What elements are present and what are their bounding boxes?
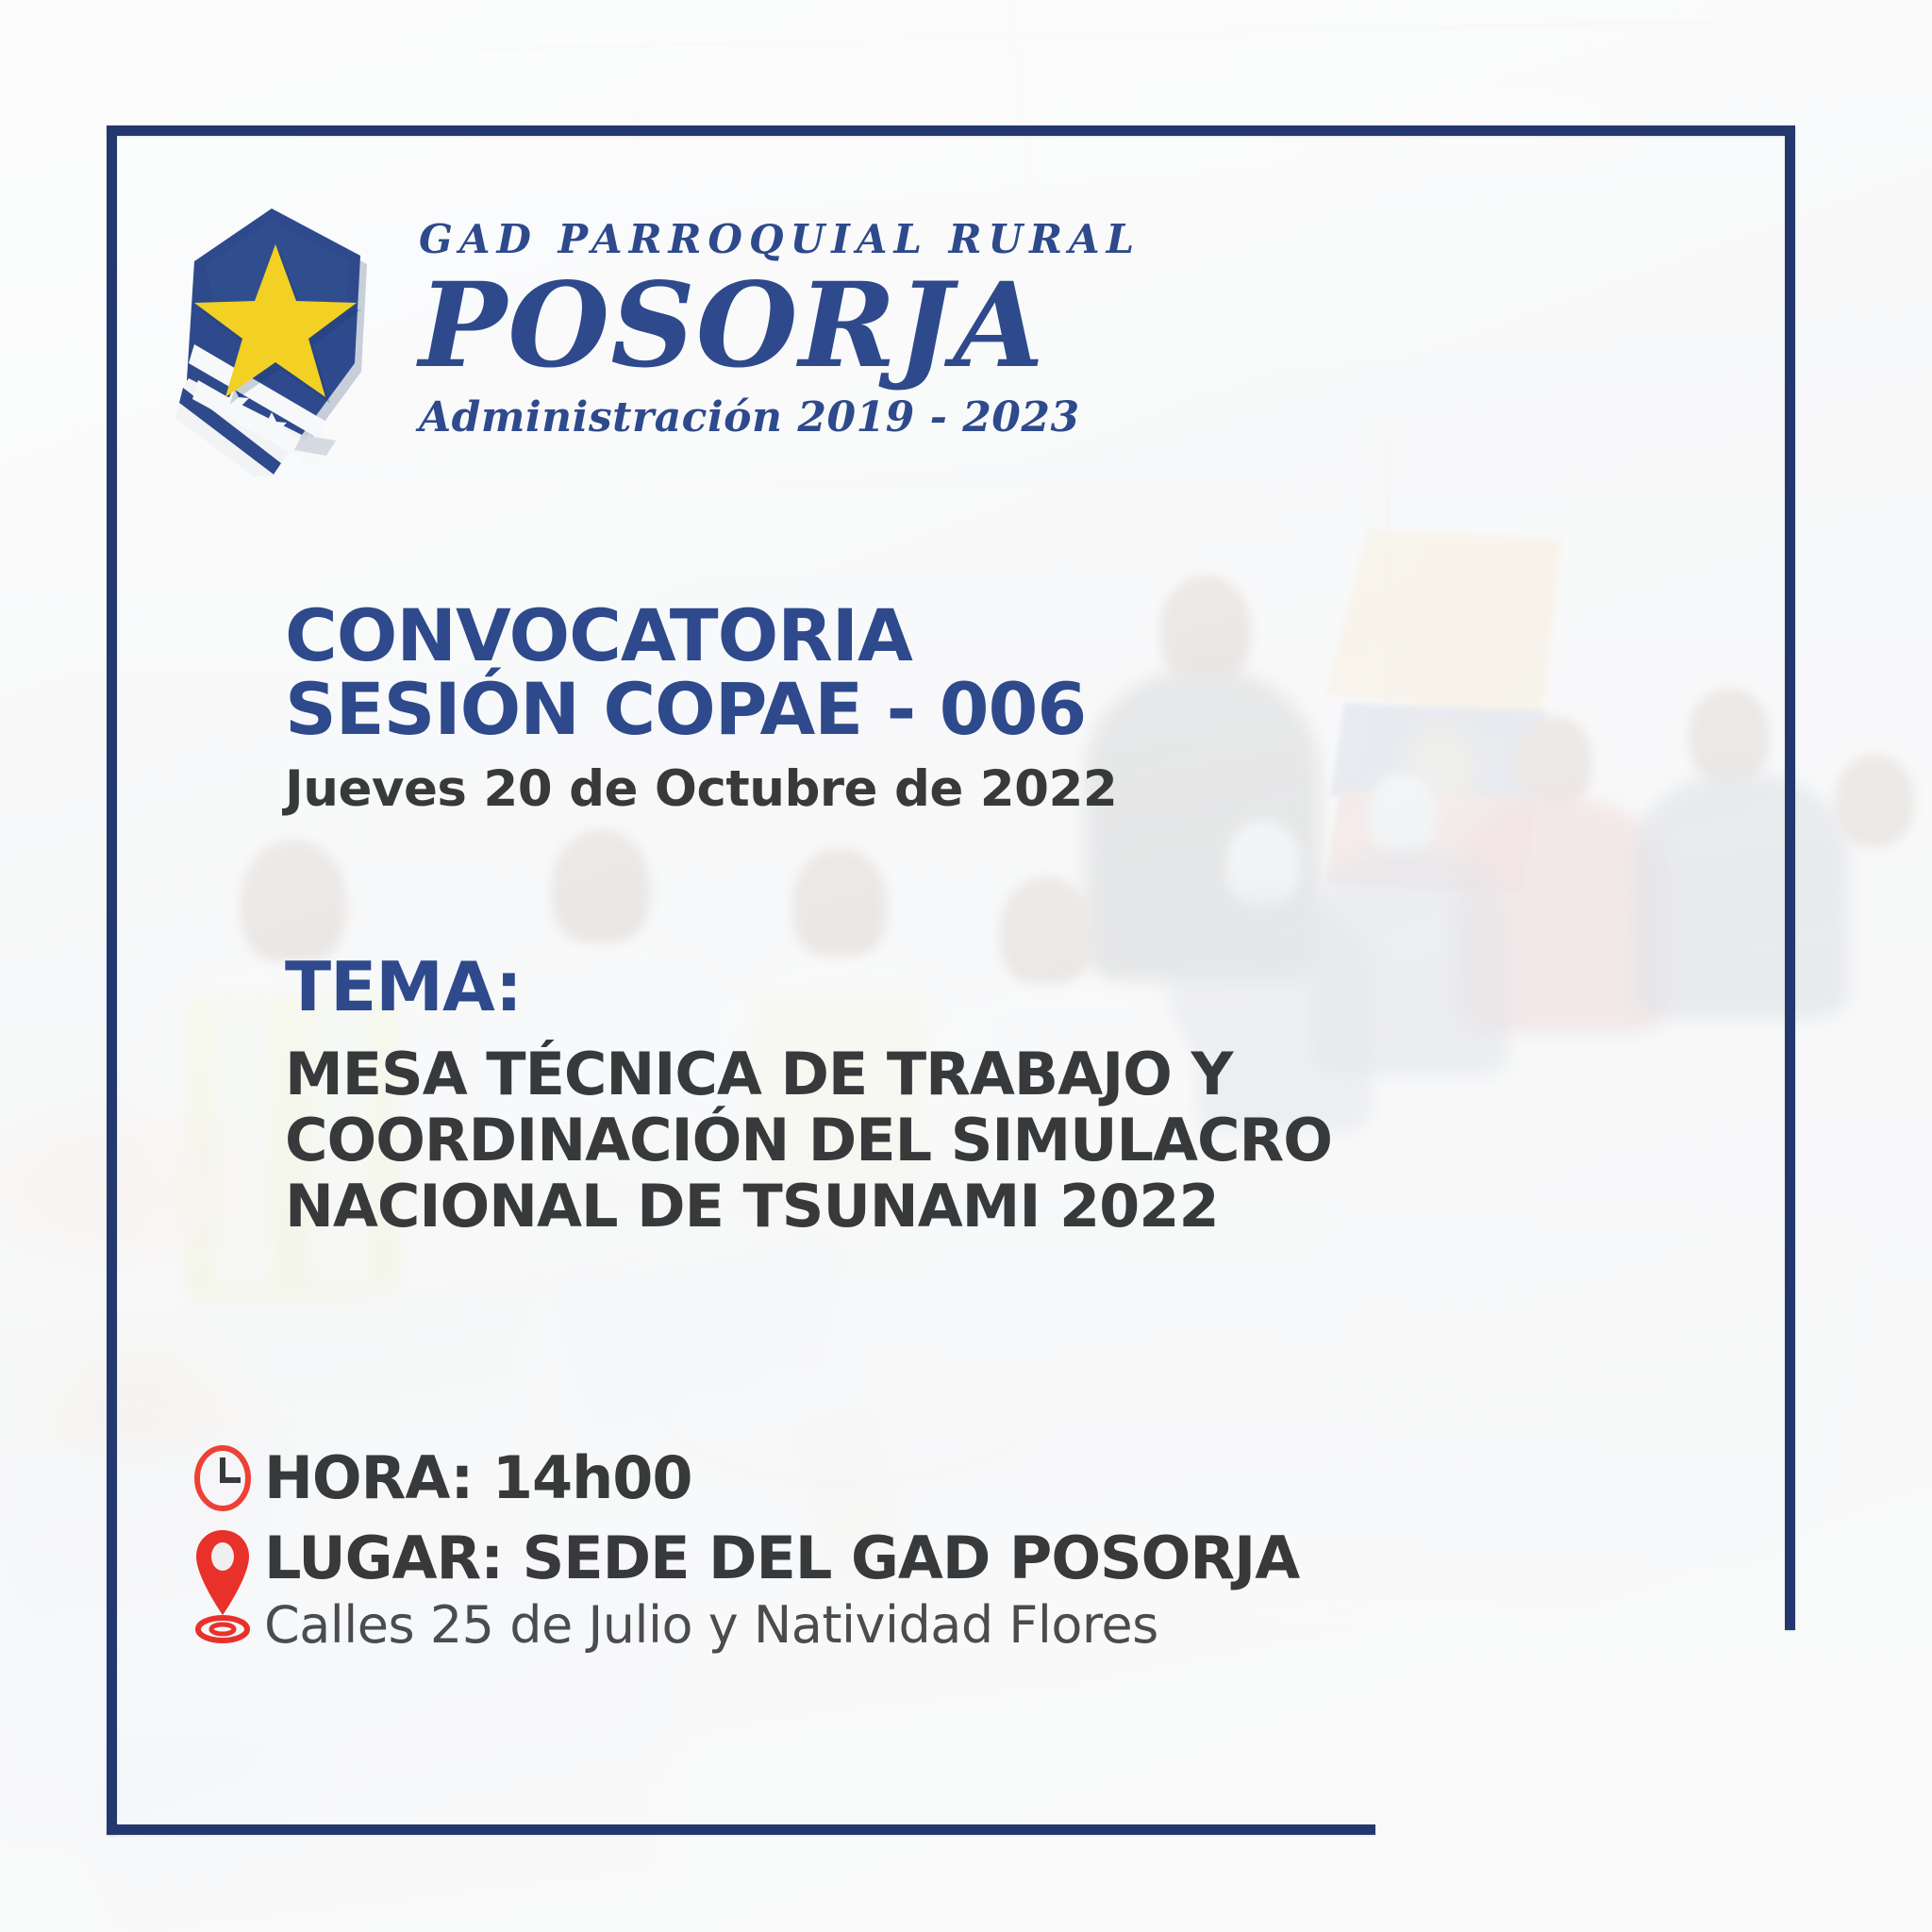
headline-block: CONVOCATORIA SESIÓN COPAE - 006 Jueves 2… [285, 599, 1117, 817]
headline-date: Jueves 20 de Octubre de 2022 [285, 762, 1117, 817]
shield-star-icon [160, 203, 396, 476]
time-text: HORA: 14h00 [264, 1448, 692, 1507]
tema-label: TEMA: [285, 953, 1332, 1021]
logo-line-admin: Administración 2019 - 2023 [419, 397, 1141, 439]
location-pin-icon [181, 1528, 264, 1651]
headline-line-2: SESIÓN COPAE - 006 [285, 673, 1117, 746]
clock-icon [181, 1443, 264, 1513]
logo-line-posorja: POSORJA [419, 265, 1141, 388]
logo-wordmark: GAD PARROQUIAL RURAL POSORJA Administrac… [419, 220, 1141, 439]
headline-line-1: CONVOCATORIA [285, 599, 1117, 673]
tema-block: TEMA: MESA TÉCNICA DE TRABAJO Y COORDINA… [285, 953, 1332, 1240]
poster-canvas: GAD PARROQUIAL RURAL POSORJA Administrac… [0, 0, 1932, 1932]
event-details-block: HORA: 14h00 LUGAR: SEDE DEL GAD POSORJA … [181, 1443, 1299, 1653]
tema-line-1: MESA TÉCNICA DE TRABAJO Y [285, 1041, 1332, 1108]
place-text: LUGAR: SEDE DEL GAD POSORJA [264, 1528, 1299, 1588]
poster-content: GAD PARROQUIAL RURAL POSORJA Administrac… [0, 0, 1932, 1932]
address-text: Calles 25 de Julio y Natividad Flores [264, 1599, 1299, 1653]
logo-line-gad: GAD PARROQUIAL RURAL [419, 220, 1141, 259]
organization-logo: GAD PARROQUIAL RURAL POSORJA Administrac… [160, 203, 1141, 476]
time-row: HORA: 14h00 [181, 1443, 1299, 1513]
tema-line-3: NACIONAL DE TSUNAMI 2022 [285, 1174, 1332, 1240]
tema-line-2: COORDINACIÓN DEL SIMULACRO [285, 1108, 1332, 1174]
place-row: LUGAR: SEDE DEL GAD POSORJA Calles 25 de… [181, 1528, 1299, 1653]
